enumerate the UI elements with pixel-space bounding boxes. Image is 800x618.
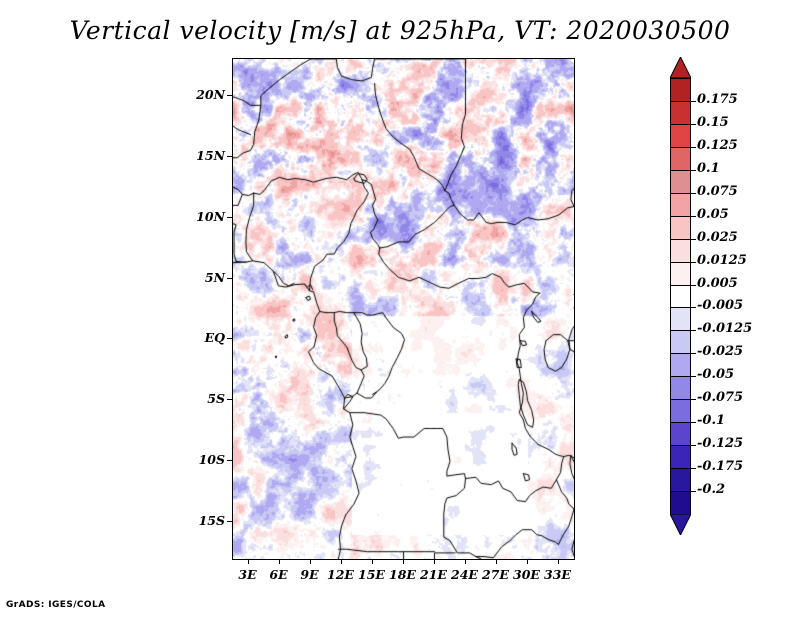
colorbar-label: 0.15 <box>697 115 729 130</box>
lon-tick <box>403 559 404 564</box>
lon-tick <box>434 559 435 564</box>
lon-tick <box>279 559 280 564</box>
colorbar-tick <box>691 445 696 446</box>
colorbar-tick <box>691 124 696 125</box>
colorbar-tick <box>691 376 696 377</box>
colorbar-tick <box>691 101 696 102</box>
colorbar-label: -0.175 <box>697 459 743 474</box>
colorbar-swatch <box>670 147 691 171</box>
colorbar-tick <box>691 147 696 148</box>
colorbar-label: 0.05 <box>697 207 729 222</box>
lon-tick <box>372 559 373 564</box>
colorbar-label: 0.005 <box>697 276 738 291</box>
lon-tick <box>248 559 249 564</box>
colorbar-swatch <box>670 307 691 331</box>
colorbar-label: -0.025 <box>697 344 743 359</box>
colorbar-swatch <box>670 239 691 263</box>
colorbar-swatch <box>670 285 691 309</box>
colorbar-label: -0.05 <box>697 367 734 382</box>
colorbar-swatch <box>670 353 691 377</box>
lon-tick <box>310 559 311 564</box>
colorbar-label: -0.075 <box>697 390 743 405</box>
lon-tick <box>496 559 497 564</box>
map-plot-area[interactable] <box>232 58 575 560</box>
colorbar-tick <box>691 330 696 331</box>
colorbar-tick <box>691 170 696 171</box>
colorbar-label: -0.125 <box>697 436 743 451</box>
colorbar-swatch <box>670 399 691 423</box>
colorbar-label: -0.1 <box>697 413 725 428</box>
colorbar-min-arrow <box>670 514 691 535</box>
colorbar-label: -0.2 <box>697 482 725 497</box>
colorbar-tick <box>691 422 696 423</box>
page-title: Vertical velocity [m/s] at 925hPa, VT: 2… <box>0 16 800 45</box>
lat-label: 15N <box>184 148 225 163</box>
colorbar-swatch <box>670 170 691 194</box>
lat-tick <box>227 338 232 339</box>
colorbar-swatch <box>670 124 691 148</box>
colorbar-label: -0.005 <box>697 298 743 313</box>
colorbar-tick <box>691 399 696 400</box>
colorbar-swatch <box>670 193 691 217</box>
colorbar-swatch <box>670 445 691 469</box>
colorbar-label: 0.175 <box>697 92 738 107</box>
colorbar-swatch <box>670 422 691 446</box>
colorbar-tick <box>691 491 696 492</box>
lat-tick <box>227 399 232 400</box>
lat-tick <box>227 521 232 522</box>
colorbar[interactable] <box>670 78 691 514</box>
colorbar-swatch <box>670 491 691 515</box>
colorbar-tick <box>691 239 696 240</box>
colorbar-tick <box>691 285 696 286</box>
colorbar-tick <box>691 262 696 263</box>
vertical-velocity-field <box>233 59 574 559</box>
colorbar-swatch <box>670 376 691 400</box>
lon-tick <box>527 559 528 564</box>
lat-label: 10N <box>184 209 225 224</box>
lat-label: 5N <box>184 270 225 285</box>
lat-tick <box>227 278 232 279</box>
lat-label: EQ <box>184 330 225 345</box>
colorbar-swatch <box>670 330 691 354</box>
lon-tick <box>341 559 342 564</box>
colorbar-label: 0.025 <box>697 230 738 245</box>
colorbar-swatch <box>670 78 691 102</box>
colorbar-tick <box>691 193 696 194</box>
lon-label: 33E <box>538 567 578 582</box>
lat-label: 5S <box>184 391 225 406</box>
colorbar-label: 0.125 <box>697 138 738 153</box>
lat-label: 10S <box>184 452 225 467</box>
lat-tick <box>227 95 232 96</box>
lat-label: 20N <box>184 87 225 102</box>
colorbar-tick <box>691 353 696 354</box>
colorbar-swatch <box>670 468 691 492</box>
grads-credit: GrADS: IGES/COLA <box>6 600 106 610</box>
colorbar-label: 0.075 <box>697 184 738 199</box>
colorbar-tick <box>691 216 696 217</box>
lon-tick <box>465 559 466 564</box>
lat-tick <box>227 217 232 218</box>
colorbar-label: -0.0125 <box>697 321 752 336</box>
lat-tick <box>227 156 232 157</box>
colorbar-max-arrow <box>670 57 691 78</box>
colorbar-tick <box>691 468 696 469</box>
colorbar-swatch <box>670 101 691 125</box>
colorbar-swatch <box>670 262 691 286</box>
lon-tick <box>558 559 559 564</box>
lat-tick <box>227 460 232 461</box>
lat-label: 15S <box>184 513 225 528</box>
colorbar-tick <box>691 307 696 308</box>
colorbar-swatch <box>670 216 691 240</box>
colorbar-label: 0.0125 <box>697 253 747 268</box>
colorbar-label: 0.1 <box>697 161 720 176</box>
